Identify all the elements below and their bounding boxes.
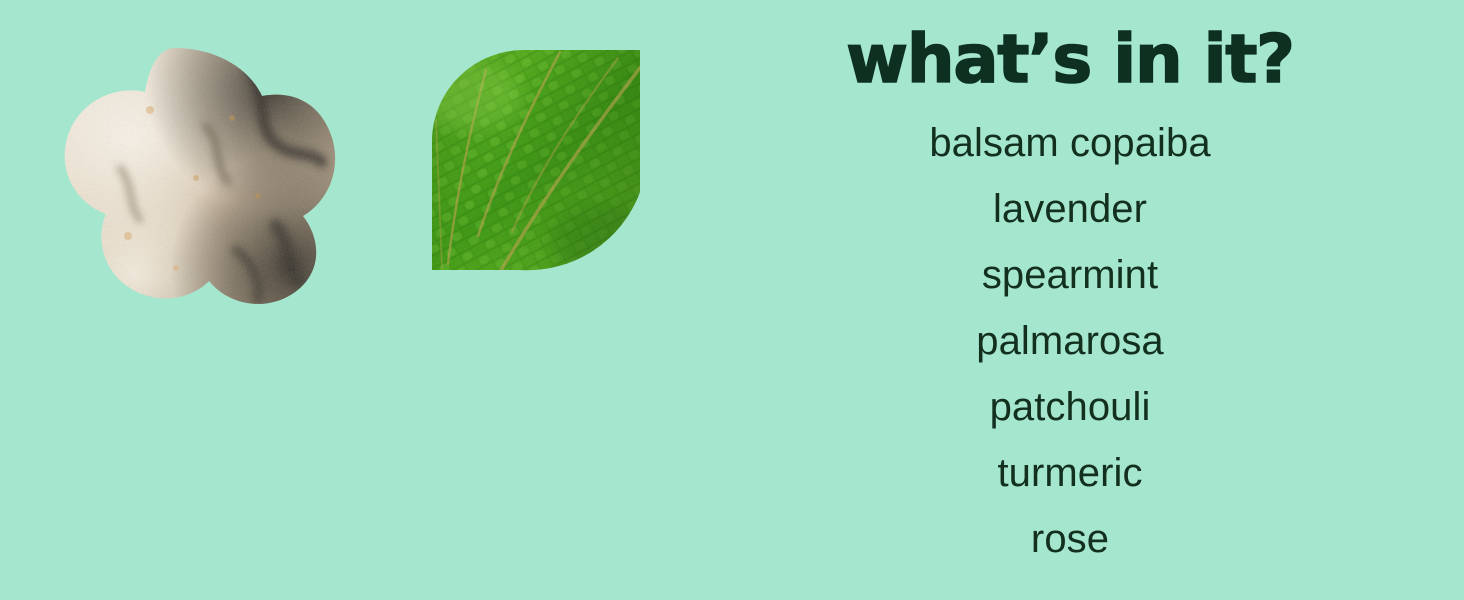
flower-shape: [540, 250, 880, 560]
resin-quatrefoil-shape: [50, 35, 350, 325]
ingredient-list: balsam copaiba lavender spearmint palmar…: [830, 110, 1310, 572]
list-item: turmeric: [830, 440, 1310, 506]
text-column: what’s in it? balsam copaiba lavender sp…: [830, 0, 1310, 600]
list-item: patchouli: [830, 374, 1310, 440]
ingredients-banner: what’s in it? balsam copaiba lavender sp…: [0, 0, 1464, 600]
list-item: lavender: [830, 176, 1310, 242]
page-title: what’s in it?: [846, 24, 1294, 94]
grass-bars-shape: [187, 285, 514, 585]
list-item: palmarosa: [830, 308, 1310, 374]
list-item: balsam copaiba: [830, 110, 1310, 176]
list-item: rose: [830, 506, 1310, 572]
list-item: spearmint: [830, 242, 1310, 308]
leaf-shape: [418, 45, 650, 280]
